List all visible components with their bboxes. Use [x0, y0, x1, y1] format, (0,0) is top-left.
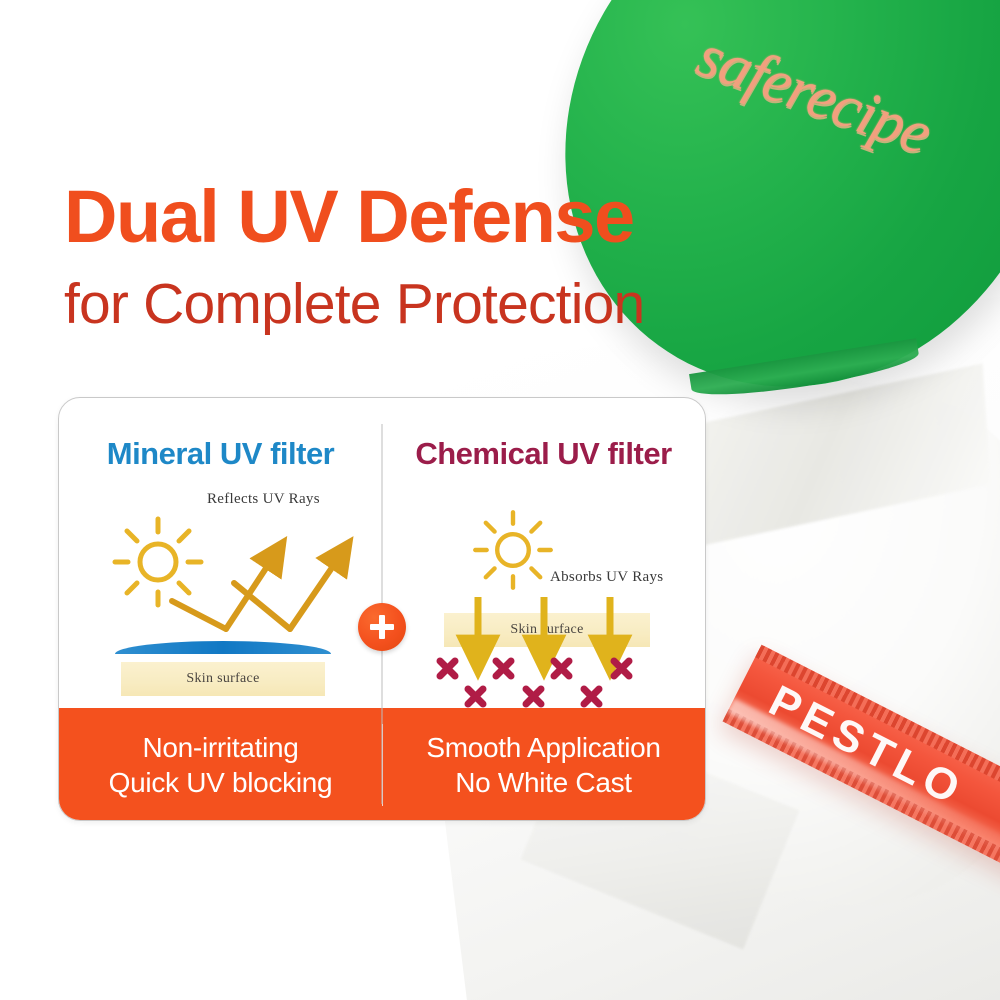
reflected-ray-arrows-icon: [164, 509, 364, 649]
benefit-mineral-line1: Non-irritating: [109, 730, 333, 765]
blocked-x-marks-icon: [434, 657, 664, 715]
panel-title-mineral: Mineral UV filter: [59, 438, 382, 469]
sun-icon: [470, 507, 556, 593]
benefit-chemical-line1: Smooth Application: [426, 730, 660, 765]
mineral-diagram: Reflects UV Rays Skin surface: [59, 469, 382, 699]
benefit-chemical: Smooth Application No White Cast: [382, 708, 705, 821]
card-diagram-area: Mineral UV filter: [59, 398, 705, 708]
chemical-ray-label: Absorbs UV Rays: [550, 569, 663, 586]
panel-mineral-uv-filter: Mineral UV filter: [59, 398, 382, 708]
infographic-canvas: saferecipe PESTLO Dual UV Defense for Co…: [0, 0, 1000, 1000]
page-title: Dual UV Defense: [64, 180, 634, 254]
mineral-skin-surface-label: Skin surface: [186, 671, 259, 687]
plus-icon: [358, 603, 406, 651]
benefit-mineral-line2: Quick UV blocking: [109, 765, 333, 800]
mineral-ray-label: Reflects UV Rays: [207, 491, 320, 508]
page-subtitle: for Complete Protection: [64, 276, 644, 333]
panel-chemical-uv-filter: Chemical UV filter: [382, 398, 705, 708]
chemical-diagram: Absorbs UV Rays Skin surface: [382, 469, 705, 699]
benefit-mineral: Non-irritating Quick UV blocking: [59, 708, 382, 821]
panel-title-chemical: Chemical UV filter: [382, 438, 705, 469]
uv-filter-comparison-card: Mineral UV filter: [58, 397, 706, 821]
mineral-skin-surface-band: Skin surface: [121, 662, 325, 696]
benefit-chemical-line2: No White Cast: [426, 765, 660, 800]
